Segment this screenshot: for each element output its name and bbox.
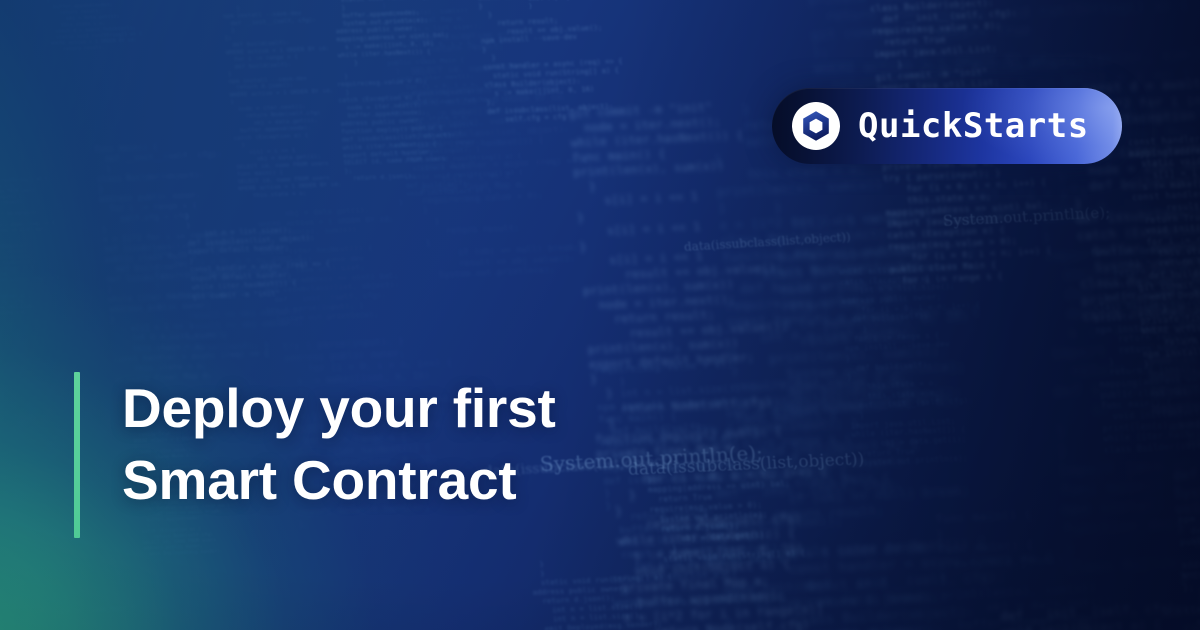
- headline-line-2: Smart Contract: [122, 444, 556, 516]
- page-title: Deploy your first Smart Contract: [122, 372, 556, 538]
- headline-block: Deploy your first Smart Contract: [74, 372, 556, 538]
- badge-label: QuickStarts: [858, 109, 1089, 143]
- quickstarts-badge[interactable]: QuickStarts: [772, 88, 1122, 164]
- headline-line-1: Deploy your first: [122, 372, 556, 444]
- chainlink-hexagon-logo: [792, 102, 840, 150]
- green-accent-bar: [74, 372, 80, 538]
- quickstarts-banner: } } return True try { parse(input); } re…: [0, 0, 1200, 630]
